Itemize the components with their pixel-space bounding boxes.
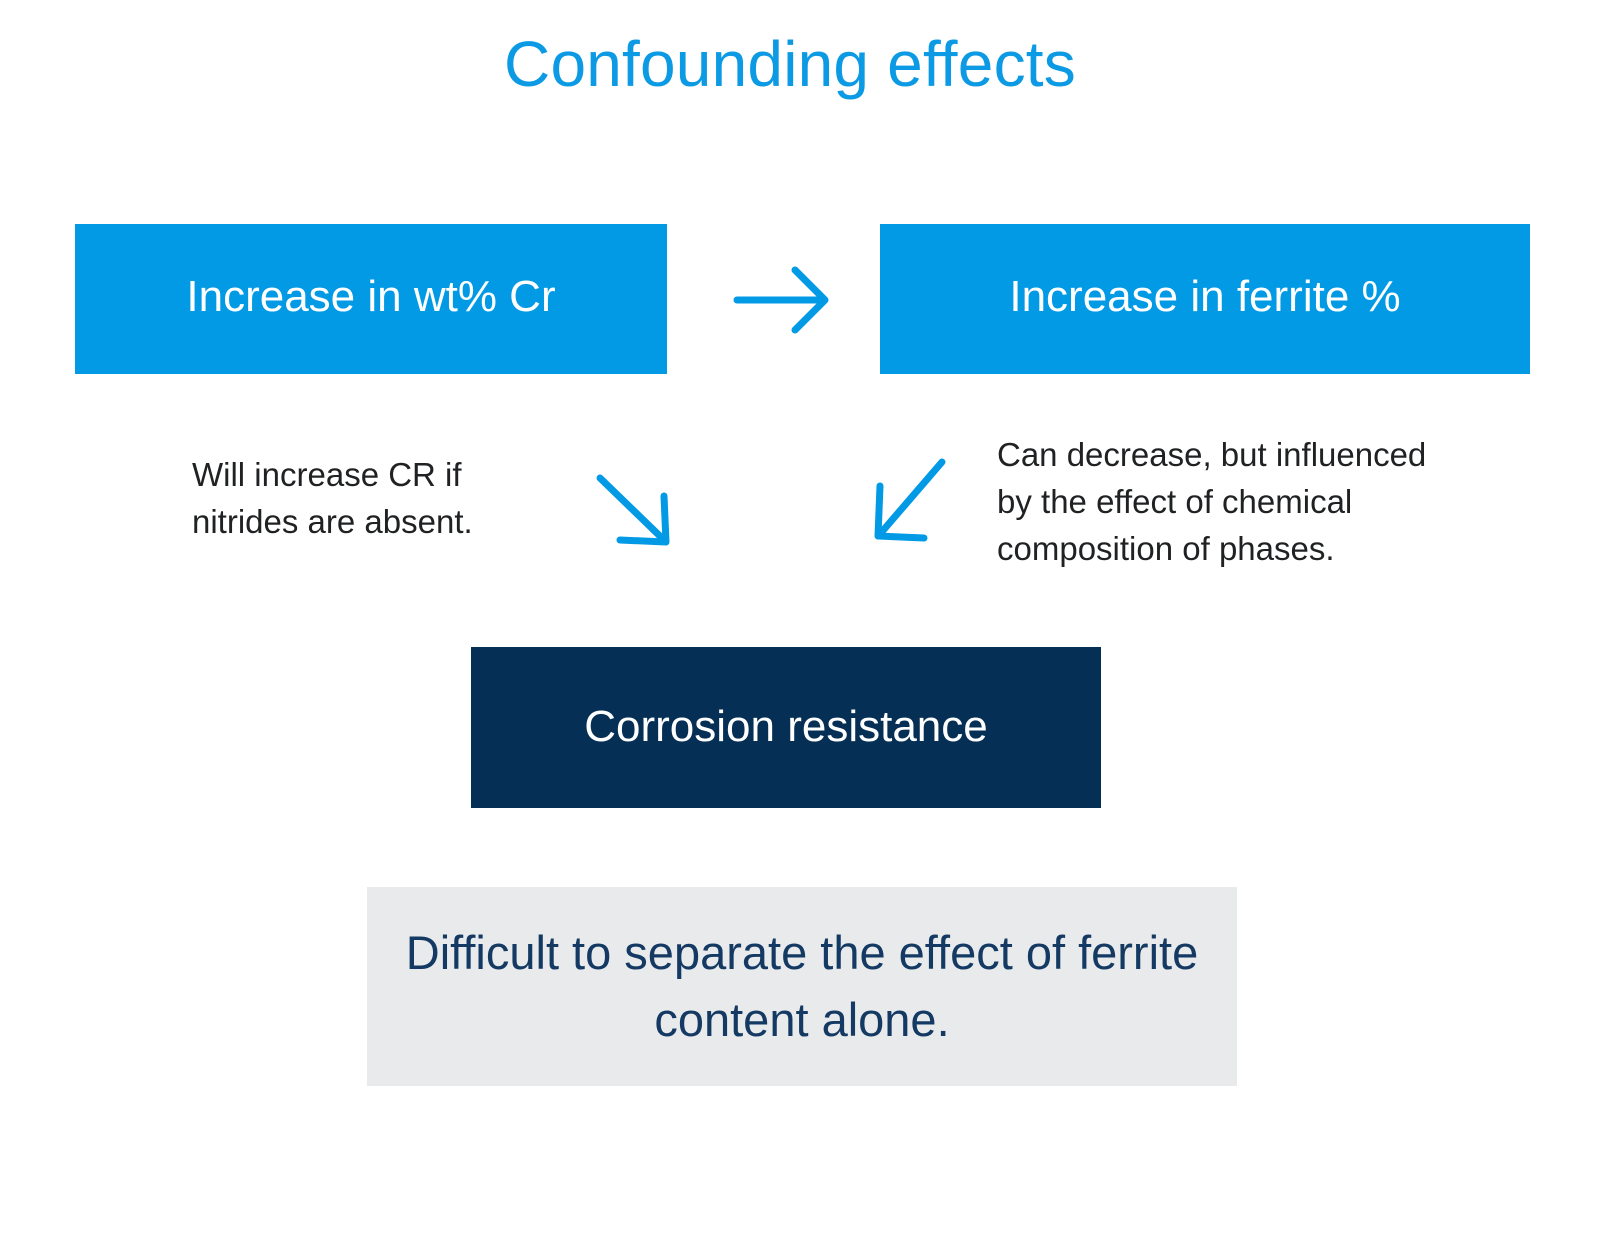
box-corrosion-resistance: Corrosion resistance [471, 647, 1101, 808]
note-left-cause: Will increase CR if nitrides are absent. [192, 452, 612, 546]
arrow-right-icon [725, 258, 835, 342]
box-conclusion-label: Difficult to separate the effect of ferr… [367, 920, 1237, 1053]
box-increase-ferrite-label: Increase in ferrite % [880, 271, 1530, 323]
page-title: Confounding effects [0, 32, 1580, 96]
arrow-down-left-icon [866, 452, 952, 550]
box-increase-wt-cr: Increase in wt% Cr [75, 224, 667, 374]
box-conclusion: Difficult to separate the effect of ferr… [367, 887, 1237, 1086]
arrow-down-right-icon [592, 470, 678, 552]
box-increase-ferrite: Increase in ferrite % [880, 224, 1530, 374]
slide-canvas: Confounding effects Increase in wt% Cr I… [0, 0, 1600, 1260]
note-right-effect: Can decrease, but influenced by the effe… [997, 432, 1537, 573]
box-increase-wt-cr-label: Increase in wt% Cr [75, 271, 667, 323]
box-corrosion-resistance-label: Corrosion resistance [471, 701, 1101, 753]
